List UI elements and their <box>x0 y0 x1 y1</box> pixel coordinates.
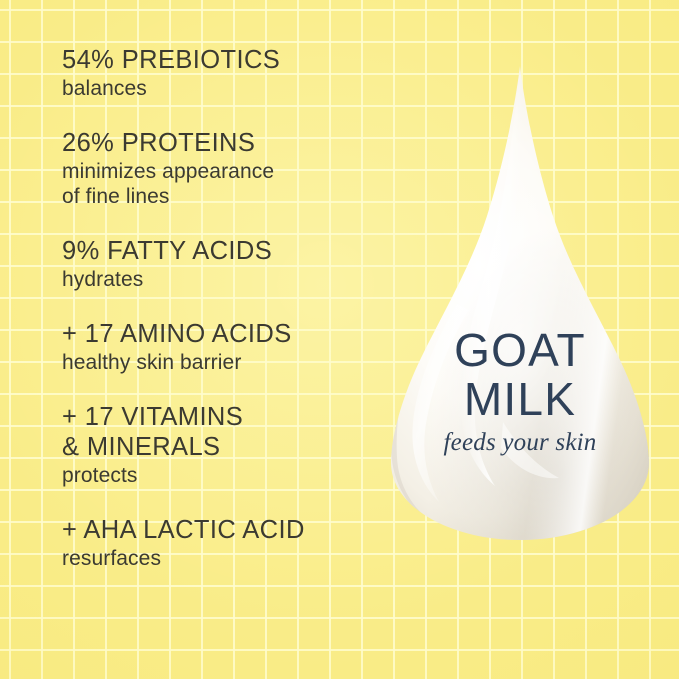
list-item: + 17 AMINO ACIDS healthy skin barrier <box>62 319 374 375</box>
ingredient-list: 54% PREBIOTICS balances 26% PROTEINS min… <box>62 45 374 571</box>
list-item: + 17 VITAMINS & MINERALS protects <box>62 402 374 488</box>
brand-tagline: feeds your skin <box>391 428 649 458</box>
ingredient-name: 9% FATTY ACIDS <box>62 236 374 266</box>
ingredient-benefit: resurfaces <box>62 546 374 571</box>
ingredient-name: 54% PREBIOTICS <box>62 45 374 75</box>
ingredient-benefit: healthy skin barrier <box>62 350 374 375</box>
ingredient-name: + 17 VITAMINS & MINERALS <box>62 402 374 462</box>
ingredient-benefit: balances <box>62 76 374 101</box>
brand-name-line-1: GOAT <box>391 326 649 375</box>
brand-lockup: GOAT MILK feeds your skin <box>391 326 649 458</box>
ingredient-name: + 17 AMINO ACIDS <box>62 319 374 349</box>
ingredient-benefit: minimizes appearance of fine lines <box>62 159 374 209</box>
list-item: 54% PREBIOTICS balances <box>62 45 374 101</box>
brand-name-line-2: MILK <box>391 375 649 424</box>
list-item: + AHA LACTIC ACID resurfaces <box>62 515 374 571</box>
milk-droplet-illustration <box>391 66 649 540</box>
list-item: 26% PROTEINS minimizes appearance of fin… <box>62 128 374 209</box>
goat-milk-ingredient-infographic: 54% PREBIOTICS balances 26% PROTEINS min… <box>0 0 679 679</box>
ingredient-benefit: hydrates <box>62 267 374 292</box>
ingredient-name: 26% PROTEINS <box>62 128 374 158</box>
ingredient-benefit: protects <box>62 463 374 488</box>
ingredient-name: + AHA LACTIC ACID <box>62 515 374 545</box>
list-item: 9% FATTY ACIDS hydrates <box>62 236 374 292</box>
